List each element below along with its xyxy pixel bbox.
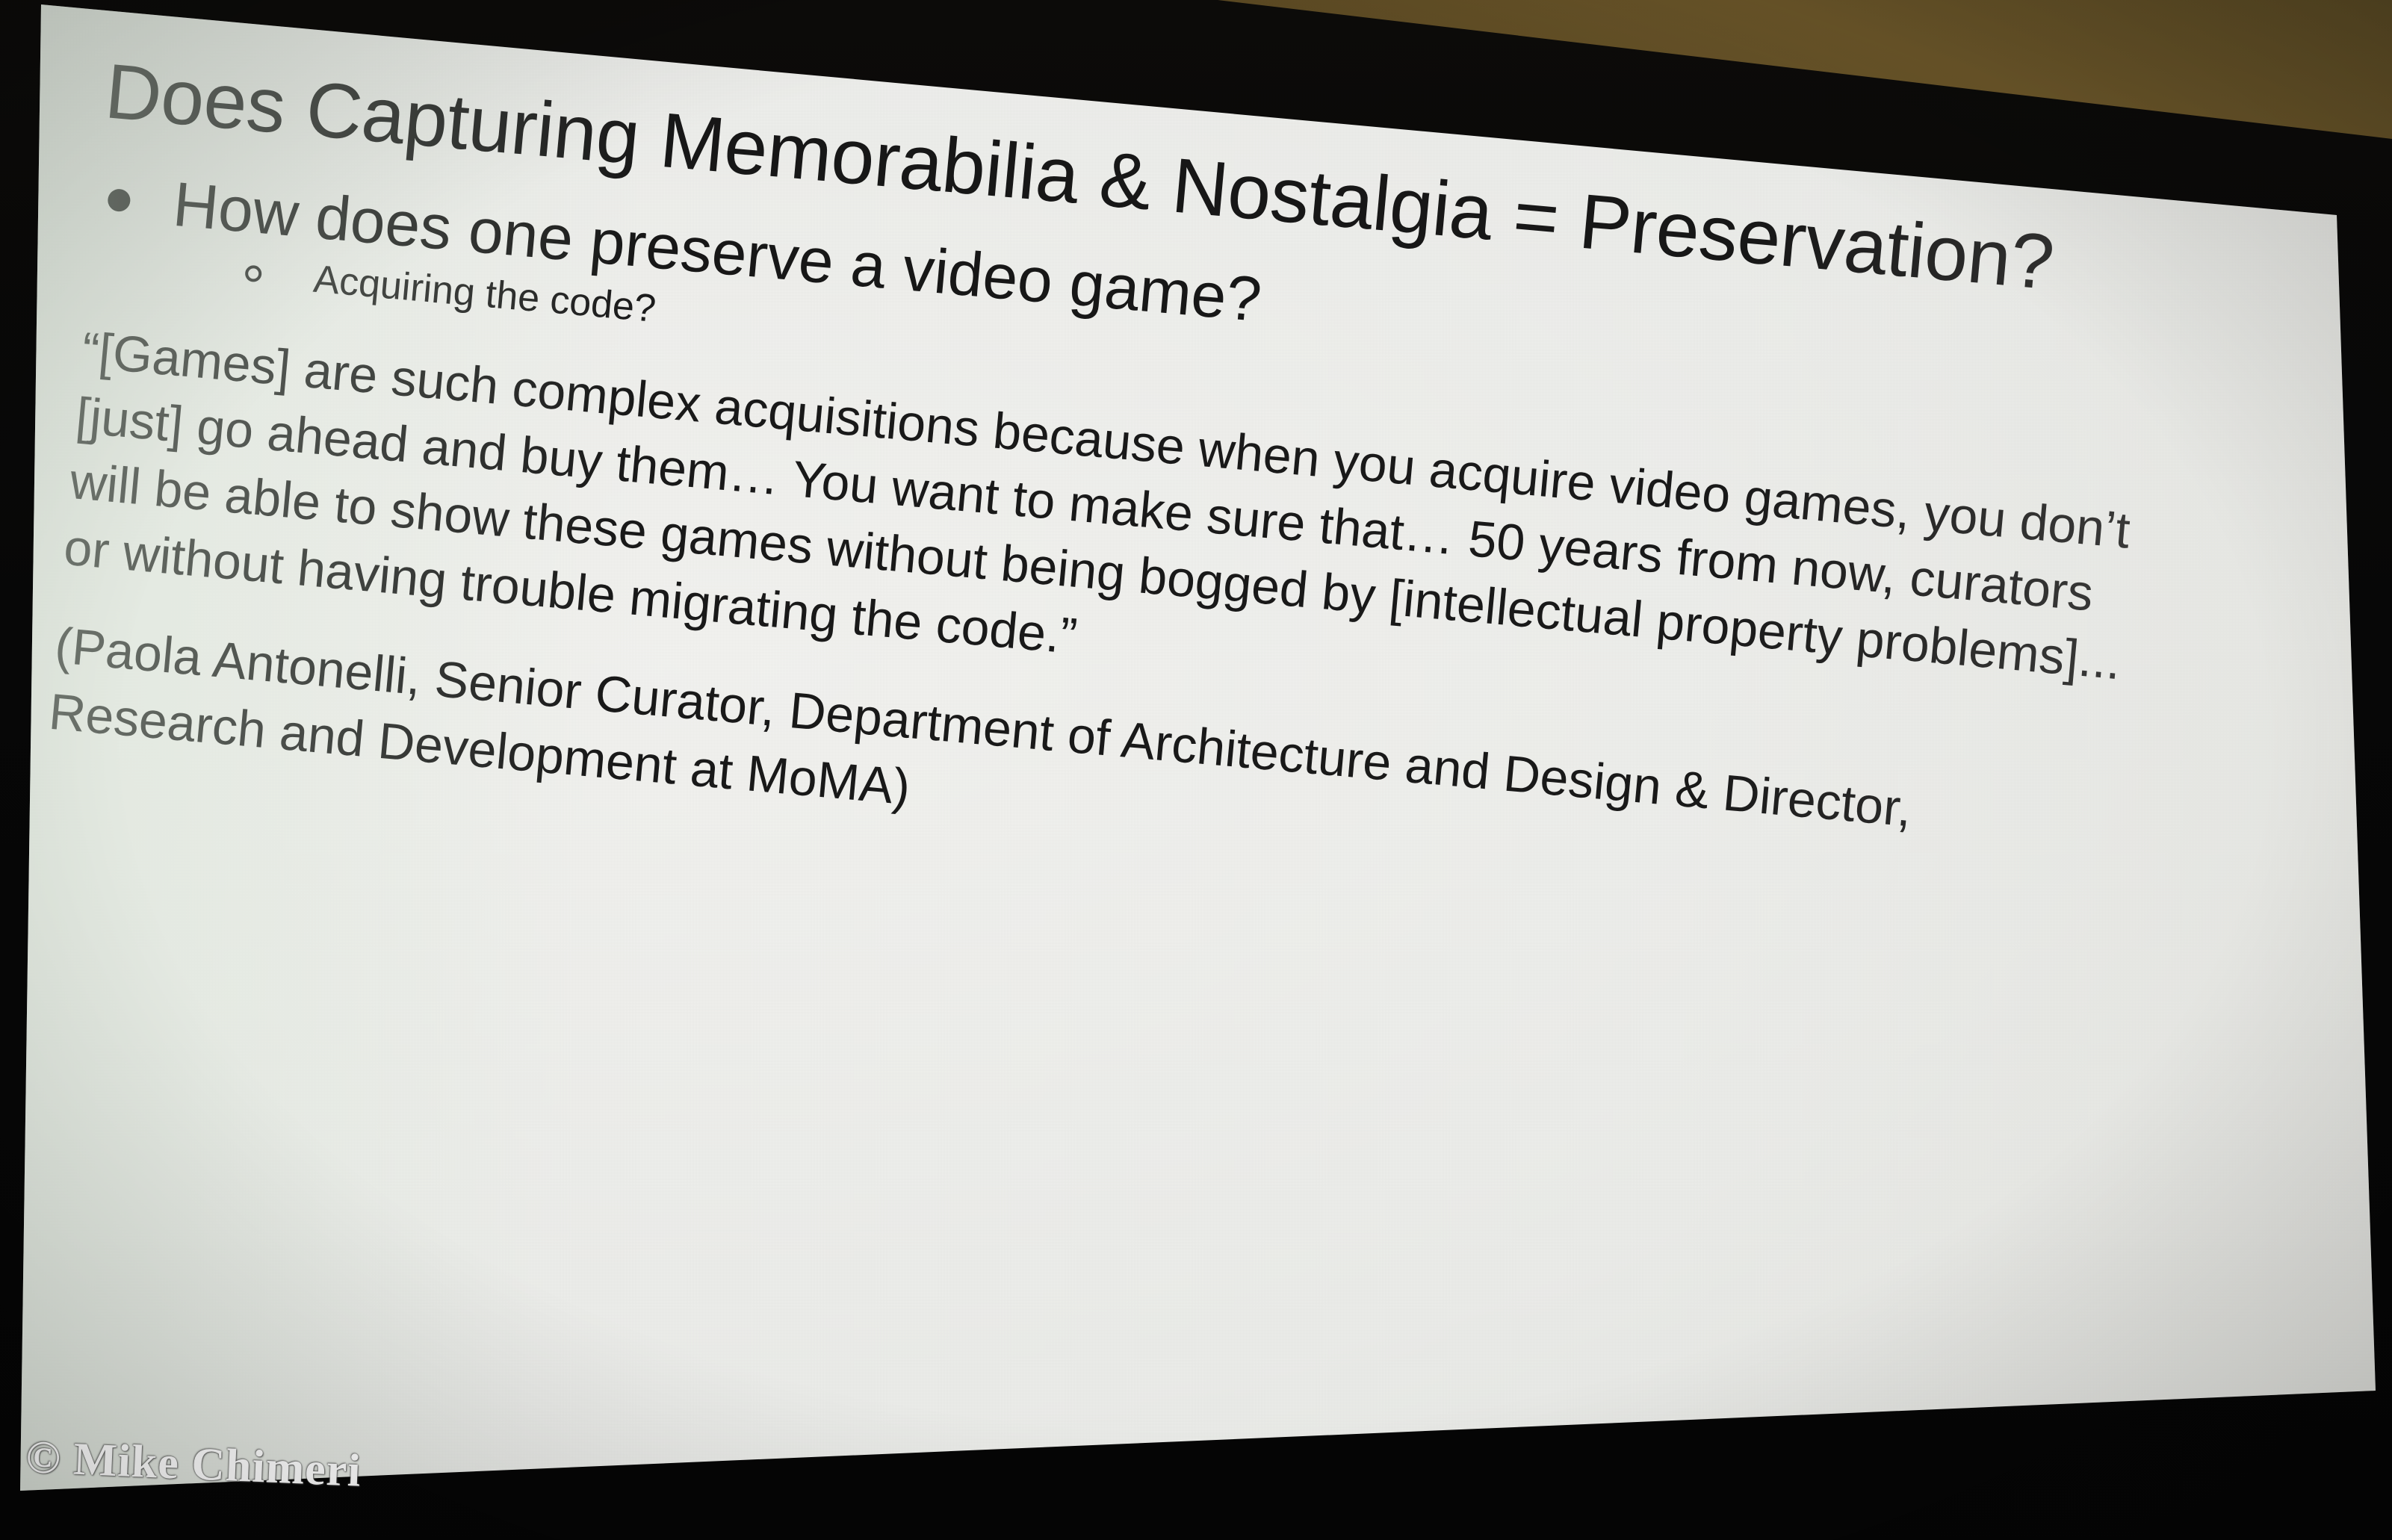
presentation-slide: Does Capturing Memorabilia & Nostalgia =… (0, 0, 2392, 1540)
projection-screen: Does Capturing Memorabilia & Nostalgia =… (0, 0, 2392, 1540)
slide-content-area: Does Capturing Memorabilia & Nostalgia =… (46, 50, 2216, 930)
hollow-circle-bullet-icon (244, 265, 262, 283)
photograph-of-projected-slide: Does Capturing Memorabilia & Nostalgia =… (0, 0, 2392, 1540)
screen-surface: Does Capturing Memorabilia & Nostalgia =… (0, 0, 2392, 1540)
filled-disc-bullet-icon (107, 188, 131, 213)
